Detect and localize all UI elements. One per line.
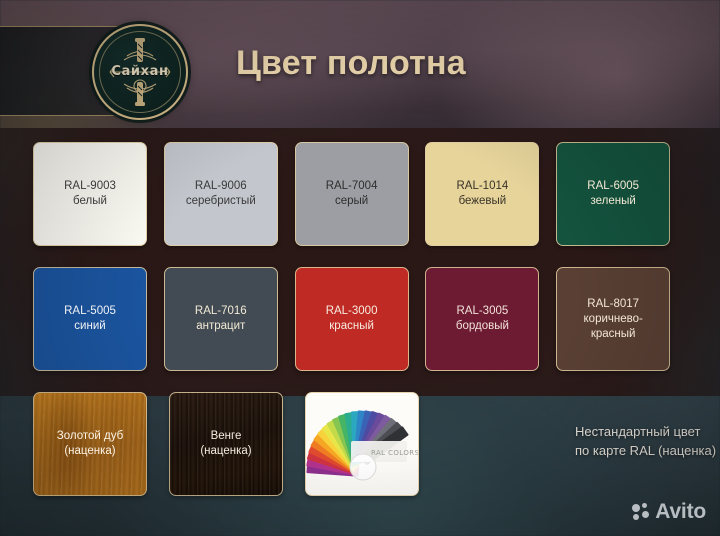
color-swatch-ral-1014[interactable]: RAL-1014 бежевый (425, 142, 539, 246)
swatch-cell[interactable]: Золотой дуб (наценка) (33, 392, 169, 496)
color-swatch-ral-5005[interactable]: RAL-5005 синий (33, 267, 147, 371)
swatch-cell[interactable]: RAL-7016 антрацит (164, 267, 295, 371)
swatch-cell[interactable]: RAL-3000 красный (295, 267, 426, 371)
brand-logo: Сайхан (92, 24, 188, 120)
color-swatch-ral-3005[interactable]: RAL-3005 бордовый (425, 267, 539, 371)
swatch-label: Венге (наценка) (196, 429, 255, 459)
swatch-label: RAL-7004 серый (322, 179, 382, 209)
ral-fan-card[interactable]: RAL COLORS (305, 392, 419, 496)
avito-wordmark: Avito (655, 500, 706, 524)
slide-canvas: Сайхан Цвет полотна RAL-9003 белый RAL-9… (0, 0, 720, 536)
ral-fan-caption: Нестандартный цвет по карте RAL (наценка… (575, 422, 720, 460)
swatch-label: RAL-1014 бежевый (452, 179, 512, 209)
header: Сайхан Цвет полотна (0, 0, 720, 128)
swatch-row-3: Золотой дуб (наценка) Венге (наценка) (33, 392, 687, 496)
swatch-cell[interactable]: RAL-9006 серебристый (164, 142, 295, 246)
swatch-cell[interactable]: RAL COLORS Нестандартный цвет по карте R… (305, 392, 441, 496)
color-swatch-ral-9006[interactable]: RAL-9006 серебристый (164, 142, 278, 246)
swatch-label: RAL-7016 антрацит (191, 304, 251, 334)
swatch-label: RAL-3000 красный (322, 304, 382, 334)
svg-text:RAL COLORS: RAL COLORS (371, 449, 419, 457)
swatch-cell[interactable]: RAL-3005 бордовый (425, 267, 556, 371)
page-title: Цвет полотна (236, 44, 466, 83)
swatch-cell[interactable]: Венге (наценка) (169, 392, 305, 496)
avito-dots-icon (632, 503, 650, 521)
swatch-row-2: RAL-5005 синий RAL-7016 антрацит RAL-300… (33, 267, 687, 371)
color-swatch-ral-7004[interactable]: RAL-7004 серый (295, 142, 409, 246)
swatch-label: RAL-9003 белый (60, 179, 120, 209)
color-swatch-ral-3000[interactable]: RAL-3000 красный (295, 267, 409, 371)
avito-watermark: Avito (632, 500, 706, 524)
brand-name: Сайхан (94, 64, 186, 79)
ral-color-fan-icon: RAL COLORS (306, 393, 419, 496)
swatch-label: RAL-8017 коричнево- красный (580, 297, 647, 342)
swatch-label: RAL-6005 зеленый (583, 179, 643, 209)
texture-swatch-wenge[interactable]: Венге (наценка) (169, 392, 283, 496)
swatch-cell[interactable]: RAL-7004 серый (295, 142, 426, 246)
swatch-label: RAL-9006 серебристый (182, 179, 260, 209)
swatch-label: RAL-5005 синий (60, 304, 120, 334)
swatch-cell[interactable]: RAL-9003 белый (33, 142, 164, 246)
texture-swatch-golden-oak[interactable]: Золотой дуб (наценка) (33, 392, 147, 496)
color-swatch-ral-7016[interactable]: RAL-7016 антрацит (164, 267, 278, 371)
swatch-cell[interactable]: RAL-8017 коричнево- красный (556, 267, 687, 371)
color-swatch-ral-6005[interactable]: RAL-6005 зеленый (556, 142, 670, 246)
swatch-label: RAL-3005 бордовый (452, 304, 513, 334)
swatch-row-1: RAL-9003 белый RAL-9006 серебристый RAL-… (33, 142, 687, 246)
swatch-cell[interactable]: RAL-6005 зеленый (556, 142, 687, 246)
swatch-cell[interactable]: RAL-5005 синий (33, 267, 164, 371)
swatch-cell[interactable]: RAL-1014 бежевый (425, 142, 556, 246)
color-swatch-ral-8017[interactable]: RAL-8017 коричнево- красный (556, 267, 670, 371)
swatch-label: Золотой дуб (наценка) (53, 429, 127, 459)
color-swatch-ral-9003[interactable]: RAL-9003 белый (33, 142, 147, 246)
